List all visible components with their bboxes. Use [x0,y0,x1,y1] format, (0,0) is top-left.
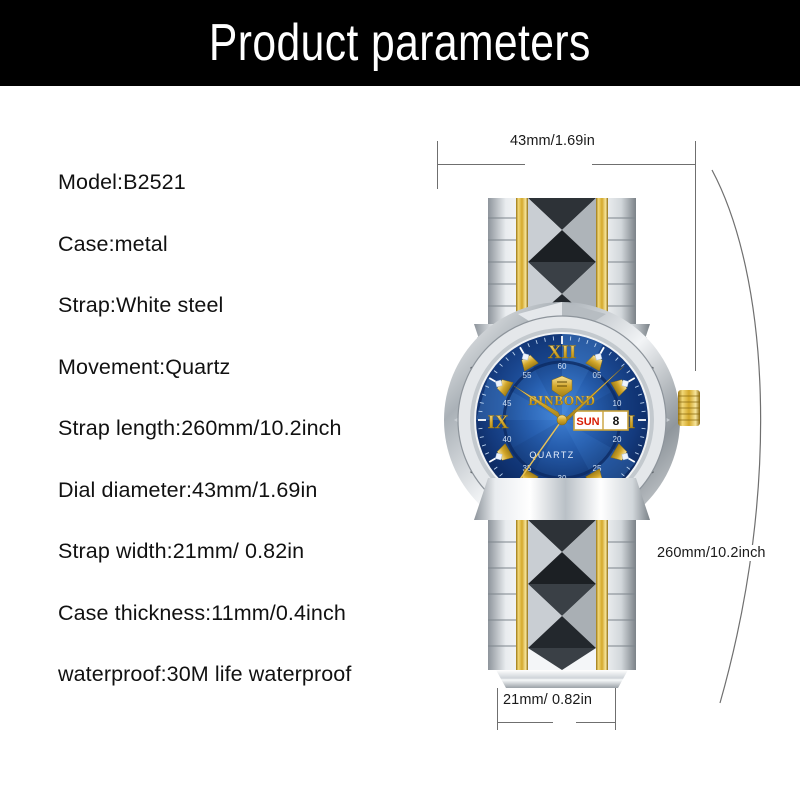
svg-text:60: 60 [558,362,567,371]
day-text: SUN [576,416,599,428]
watch-illustration: 60 05 10 20 25 30 35 40 45 55 XII III VI… [440,190,710,700]
page-header-banner: Product parameters [0,0,800,86]
spec-item-case-thickness: Case thickness:11mm/0.4inch [58,603,458,625]
date-text: 8 [613,414,620,428]
hands-pinion [557,415,567,425]
page-title: Product parameters [209,17,591,69]
bracelet-facet-pattern-lower [528,520,596,670]
product-parameters-page: Product parameters Model:B2521 Case:meta… [0,0,800,800]
dimension-label-strap-length: 260mm/10.2inch [655,545,768,561]
dial-movement-text: QUARTZ [529,450,574,460]
svg-text:20: 20 [613,435,622,444]
day-date-window: SUN 8 [574,411,628,430]
dimension-arc-strap-length [690,155,800,715]
numeral-nine: IX [487,412,508,433]
dimension-line-bottom-left [497,722,553,723]
dimension-tick-bottom-right [615,688,616,730]
svg-text:55: 55 [523,371,532,380]
svg-text:05: 05 [593,371,602,380]
dimension-label-dial-diameter: 43mm/1.69in [505,133,600,149]
spec-item-movement: Movement:Quartz [58,357,458,379]
dimension-tick-top-left [437,141,438,189]
spec-item-model: Model:B2521 [58,172,458,194]
specification-list: Model:B2521 Case:metal Strap:White steel… [58,172,458,686]
svg-text:40: 40 [503,435,512,444]
spec-item-strap-width: Strap width:21mm/ 0.82in [58,541,458,563]
bracelet-lower [474,478,650,688]
dimension-tick-bottom-left [497,688,498,730]
svg-text:10: 10 [613,399,622,408]
spec-item-case: Case:metal [58,234,458,256]
spec-item-dial-diameter: Dial diameter:43mm/1.69in [58,480,458,502]
numeral-twelve: XII [548,342,577,363]
dimension-line-bottom-right [576,722,616,723]
spec-item-strap-length: Strap length:260mm/10.2inch [58,418,458,440]
spec-item-strap: Strap:White steel [58,295,458,317]
dimension-line-top-right [592,164,696,165]
dimension-label-strap-width: 21mm/ 0.82in [501,692,594,708]
spec-item-waterproof: waterproof:30M life waterproof [58,664,458,686]
svg-text:45: 45 [503,399,512,408]
dimension-line-top-left [437,164,525,165]
